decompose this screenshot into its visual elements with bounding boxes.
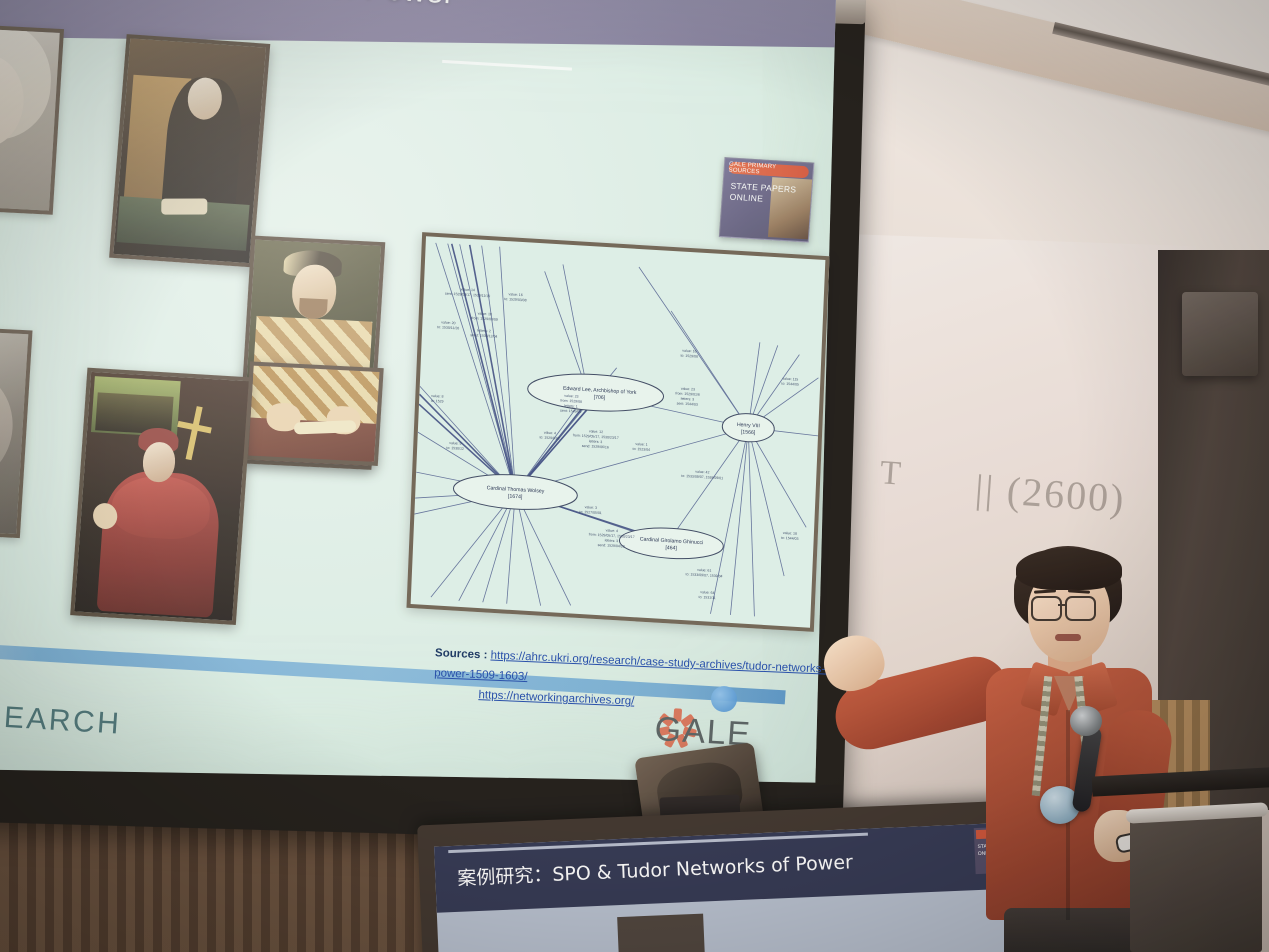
state-papers-online-card: GALE PRIMARY SOURCES STATE PAPERS ONLINE: [719, 157, 815, 242]
svg-text:to: 1544/03: to: 1544/03: [781, 536, 799, 541]
svg-text:value: 16: value: 16: [508, 292, 522, 297]
podium: [1130, 812, 1262, 952]
svg-text:value: 42: value: 42: [695, 470, 709, 475]
speaker-headshot: [0, 324, 33, 538]
glasses-icon: [1031, 596, 1062, 621]
svg-text:value: 4: value: 4: [544, 431, 556, 436]
svg-text:send: 1530/12/04: send: 1530/12/04: [470, 333, 497, 339]
svg-text:value: 3: value: 3: [585, 505, 597, 510]
svg-text:value: 14: value: 14: [461, 287, 475, 292]
painting-detail: [294, 420, 356, 434]
gale-primary-sources-ribbon: GALE PRIMARY SOURCES: [728, 161, 809, 178]
svg-text:value: 4: value: 4: [606, 528, 618, 533]
research-wordmark: RESEARCH: [0, 697, 122, 742]
presenter-legs: [1004, 908, 1146, 952]
svg-text:send: 1529/04/20: send: 1529/04/20: [598, 543, 625, 549]
microphone-icon: [1070, 706, 1102, 736]
svg-text:value: 23: value: 23: [681, 387, 695, 392]
svg-text:sent: 1529/03/17, 1529/11/19: sent: 1529/03/17, 1529/11/19: [445, 292, 490, 299]
glasses-bridge: [1058, 604, 1066, 606]
svg-text:letters: 3: letters: 3: [681, 397, 695, 402]
svg-text:sent: 1549/03: sent: 1549/03: [560, 409, 581, 414]
glasses-icon: [1065, 596, 1096, 621]
svg-text:value: 20: value: 20: [441, 320, 455, 325]
svg-text:from: 1529/01/6: from: 1529/01/6: [675, 391, 700, 396]
sources-label: Sources :: [435, 647, 488, 661]
speaker-headshot: [0, 23, 64, 215]
wall-speaker: [1182, 292, 1258, 376]
photo-scene: T || (2600) O & Tudor Networks of Power …: [0, 0, 1269, 952]
svg-text:value: 1: value: 1: [635, 442, 647, 447]
svg-text:to: 1530/11/26: to: 1530/11/26: [437, 325, 459, 330]
presenter-fringe: [1016, 548, 1122, 590]
svg-text:to: 1533/09/07, 1538/09/01: to: 1533/09/07, 1538/09/01: [681, 474, 723, 480]
painting-detail: [161, 199, 207, 215]
painting-wolsey-desk: [109, 34, 270, 267]
svg-text:letters: 2: letters: 2: [477, 328, 491, 333]
svg-text:send: 1529/06/16: send: 1529/06/16: [582, 444, 609, 450]
svg-text:letters: 1: letters: 1: [564, 404, 578, 409]
svg-text:to: 1531/11: to: 1531/11: [698, 595, 715, 600]
svg-text:value: 16: value: 16: [682, 349, 696, 354]
svg-text:value: 18: value: 18: [783, 531, 797, 536]
tudor-network-diagram: Cardinal Thomas Wolsey [1674] Edward Lee…: [406, 232, 829, 632]
whiteboard-mark: T: [879, 454, 904, 493]
painting-tudor-hands: [244, 361, 384, 466]
svg-text:from: 1529/03/09: from: 1529/03/09: [471, 316, 498, 322]
svg-text:value: 23: value: 23: [564, 394, 578, 399]
svg-text:letters: 3: letters: 3: [589, 439, 603, 444]
svg-text:value: 64: value: 64: [700, 590, 714, 595]
title-underline: [442, 60, 572, 71]
svg-text:letters: 3: letters: 3: [605, 538, 619, 543]
presenter: [818, 540, 1178, 952]
svg-text:value: 9: value: 9: [449, 441, 461, 446]
monitor-slide-thumb: [617, 914, 705, 952]
painting-cardinal-wolsey: [70, 368, 253, 625]
svg-text:to: 1529: to: 1529: [431, 399, 444, 404]
svg-text:sent: 1544/03: sent: 1544/03: [677, 401, 698, 406]
svg-text:to: 1544/05: to: 1544/05: [781, 382, 799, 387]
node-sub-wolsey: [1674]: [508, 494, 523, 501]
network-graph-svg: Cardinal Thomas Wolsey [1674] Edward Lee…: [411, 236, 826, 627]
svg-text:to: 1529/03/08: to: 1529/03/08: [504, 297, 527, 302]
svg-text:to: 1529/08: to: 1529/08: [680, 354, 698, 359]
node-sub-henry: [1566]: [741, 429, 756, 436]
node-sub-ghinucci: [464]: [665, 545, 677, 552]
face-shape: [0, 369, 16, 484]
laser-pointer-dot: [711, 686, 737, 712]
svg-text:value: 12: value: 12: [589, 429, 603, 434]
svg-text:value: 8: value: 8: [431, 394, 443, 399]
svg-text:value: 18: value: 18: [478, 311, 492, 316]
cross-icon: [186, 406, 203, 460]
source-link-networkingarchives[interactable]: https://networkingarchives.org/: [478, 689, 634, 708]
svg-text:to: 1523/04: to: 1523/04: [632, 447, 650, 452]
svg-text:to: 1529/03/2: to: 1529/03/2: [539, 435, 560, 440]
presenter-mouth: [1055, 634, 1081, 641]
monitor-slide-title: 案例研究：SPO & Tudor Networks of Power: [457, 847, 854, 891]
card-title: STATE PAPERS ONLINE: [729, 181, 796, 206]
svg-text:to: 1530/12: to: 1530/12: [446, 446, 464, 451]
svg-text:value: 61: value: 61: [697, 568, 711, 573]
svg-text:to: 1533/09/07, 1539/04: to: 1533/09/07, 1539/04: [686, 572, 723, 578]
node-sub-lee: [706]: [594, 395, 606, 402]
